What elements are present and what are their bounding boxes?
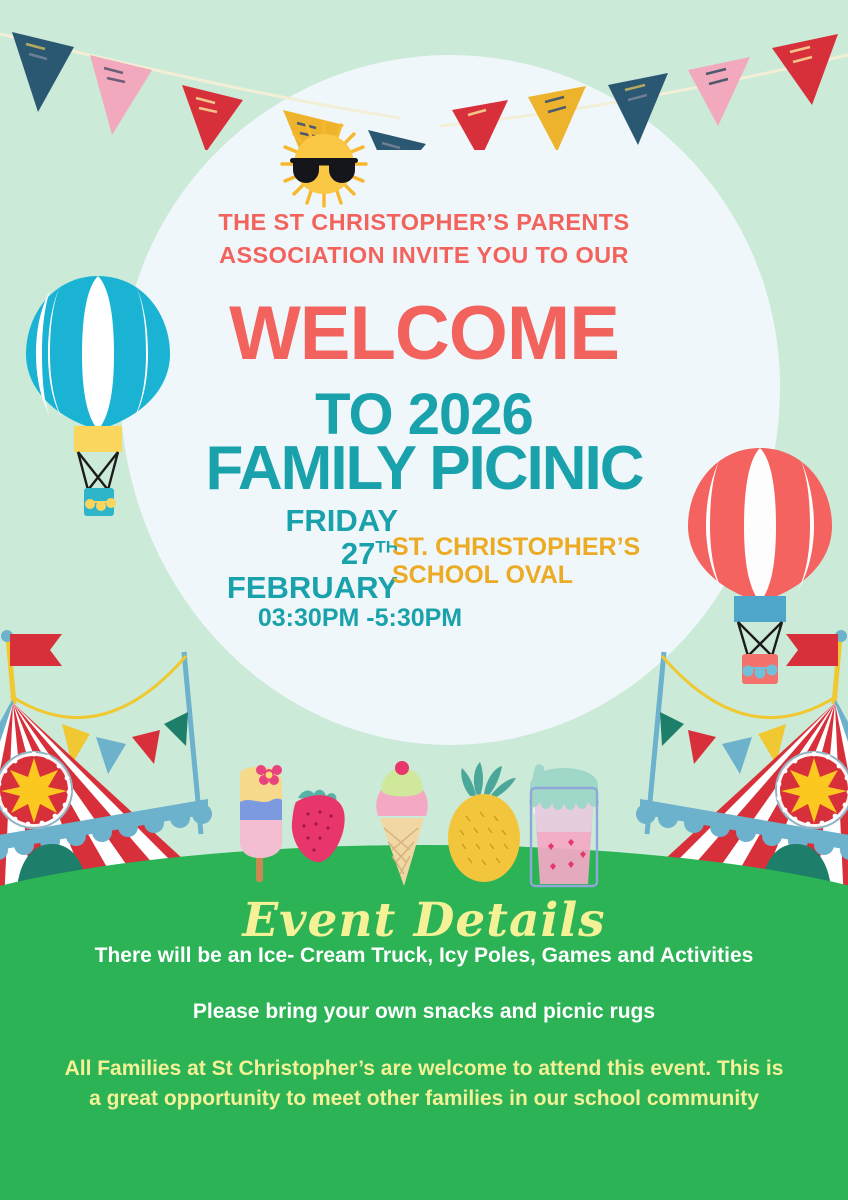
invite-heading: THE ST CHRISTOPHER’S PARENTS ASSOCIATION… (0, 206, 848, 273)
event-details-heading: Event Details (0, 893, 848, 948)
event-date: FRIDAY 27TH FEBRUARY (178, 504, 398, 604)
event-day: FRIDAY (178, 504, 398, 537)
invite-line-1: THE ST CHRISTOPHER’S PARENTS (0, 206, 848, 239)
event-venue: ST. CHRISTOPHER’S SCHOOL OVAL (392, 534, 682, 589)
event-date-number: 27TH (178, 537, 398, 570)
event-closing-text: All Families at St Christopher’s are wel… (60, 1054, 788, 1114)
invite-line-2: ASSOCIATION INVITE YOU TO OUR (0, 239, 848, 272)
event-name-title: FAMILY PICINIC (0, 438, 848, 500)
event-time: 03:30PM -5:30PM (150, 604, 570, 633)
event-flyer: THE ST CHRISTOPHER’S PARENTS ASSOCIATION… (0, 0, 848, 1200)
venue-line-2: SCHOOL OVAL (392, 562, 682, 590)
event-month: FEBRUARY (178, 571, 398, 604)
venue-line-1: ST. CHRISTOPHER’S (392, 534, 682, 562)
event-detail-line-1: There will be an Ice- Cream Truck, Icy P… (0, 944, 848, 968)
welcome-title: WELCOME (0, 296, 848, 372)
poster-text-layer: THE ST CHRISTOPHER’S PARENTS ASSOCIATION… (0, 0, 848, 1200)
event-detail-line-2: Please bring your own snacks and picnic … (0, 1000, 848, 1024)
